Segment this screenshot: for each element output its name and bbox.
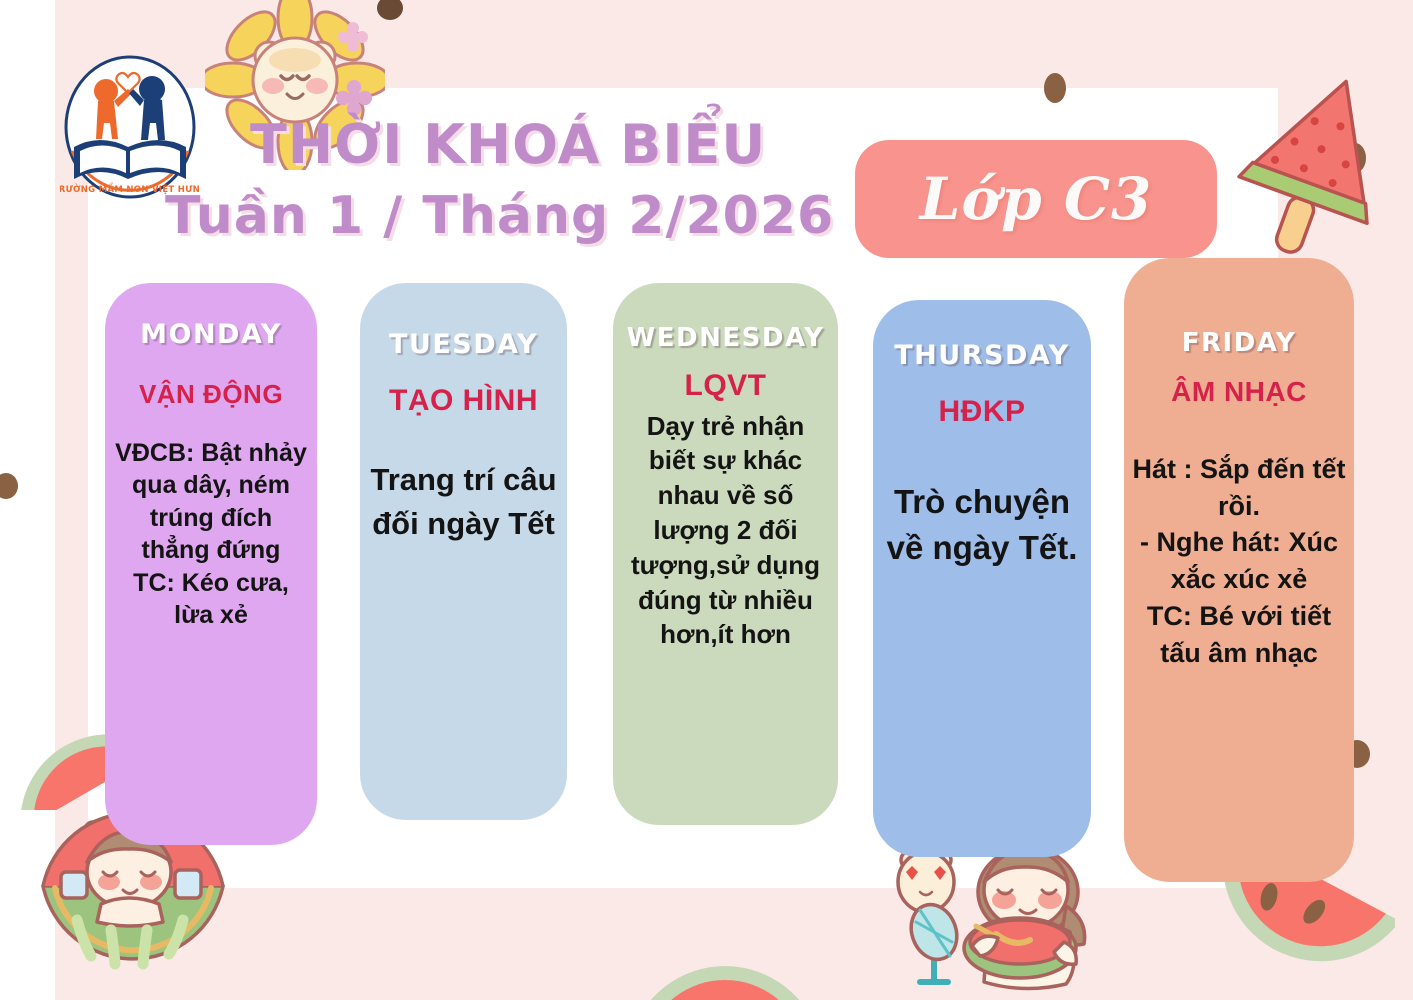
day-body-tuesday: Trang trí câu đối ngày Tết [368,458,559,548]
day-subject-friday: ÂM NHẠC [1132,374,1346,409]
day-body-friday: Hát : Sắp đến tết rồi. - Nghe hát: Xúc x… [1132,451,1346,671]
day-name-thursday: THURSDAY [881,340,1083,371]
day-subject-tuesday: TẠO HÌNH [368,382,559,420]
day-subject-wednesday: LQVT [621,367,830,405]
seed-dot-icon [0,470,26,502]
day-card-tuesday: TUESDAY TẠO HÌNH Trang trí câu đối ngày … [360,283,567,820]
day-subject-thursday: HĐKP [881,393,1083,431]
day-subject-monday: VẬN ĐỘNG [113,378,309,411]
day-card-friday: FRIDAY ÂM NHẠC Hát : Sắp đến tết rồi. - … [1124,258,1354,882]
day-card-wednesday: WEDNESDAY LQVT Dạy trẻ nhận biết sự khác… [613,283,838,825]
title-line-2: Tuần 1 / Tháng 2/2026 [165,190,815,242]
day-body-wednesday: Dạy trẻ nhận biết sự khác nhau về số lượ… [621,409,830,653]
title-line-1: THỜI KHOÁ BIỂU [165,118,815,172]
schedule-poster: TRƯỜNG MẦM NON VIỆT HƯNG THỜI KHOÁ BIỂU … [0,0,1413,1000]
day-name-wednesday: WEDNESDAY [621,323,830,353]
day-body-monday: VĐCB: Bật nhảy qua dây, ném trúng đích t… [113,437,309,632]
day-name-friday: FRIDAY [1132,328,1346,358]
day-card-monday: MONDAY VẬN ĐỘNG VĐCB: Bật nhảy qua dây, … [105,283,317,845]
class-badge-label: Lớp C3 [920,165,1153,233]
class-badge: Lớp C3 [855,140,1217,258]
day-name-tuesday: TUESDAY [368,329,559,360]
day-name-monday: MONDAY [113,319,309,350]
day-body-thursday: Trò chuyện về ngày Tết. [881,479,1083,573]
page-title: THỜI KHOÁ BIỂU Tuần 1 / Tháng 2/2026 [165,118,815,242]
day-card-thursday: THURSDAY HĐKP Trò chuyện về ngày Tết. [873,300,1091,857]
